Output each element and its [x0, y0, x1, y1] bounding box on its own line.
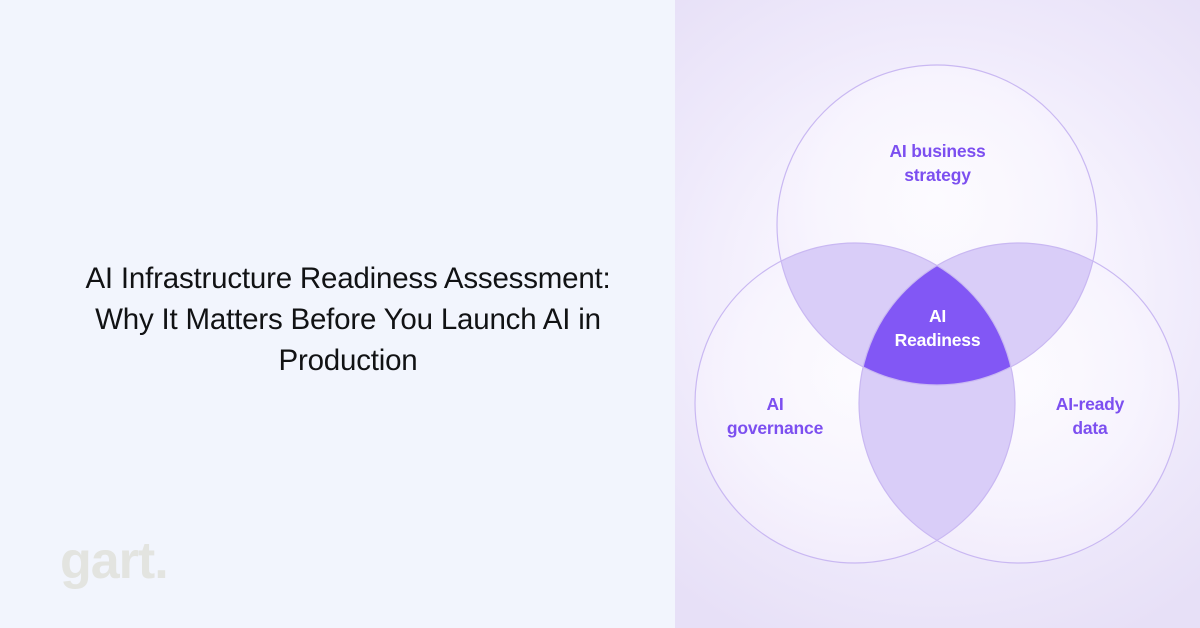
gart-logo: gart.: [60, 534, 200, 594]
left-panel: AI Infrastructure Readiness Assessment: …: [0, 0, 675, 628]
page-title: AI Infrastructure Readiness Assessment: …: [68, 258, 628, 381]
svg-text:gart.: gart.: [60, 534, 168, 590]
social-card: AI Infrastructure Readiness Assessment: …: [0, 0, 1200, 628]
venn-label-ai-readiness: AI Readiness: [875, 305, 1000, 352]
venn-label-ai-business-strategy: AI business strategy: [875, 140, 1000, 187]
logo-wordmark-icon: gart.: [60, 534, 200, 594]
venn-label-ai-governance: AI governance: [705, 393, 845, 440]
venn-panel: AI business strategy AI governance AI-re…: [675, 0, 1200, 628]
venn-label-ai-ready-data: AI-ready data: [1020, 393, 1160, 440]
